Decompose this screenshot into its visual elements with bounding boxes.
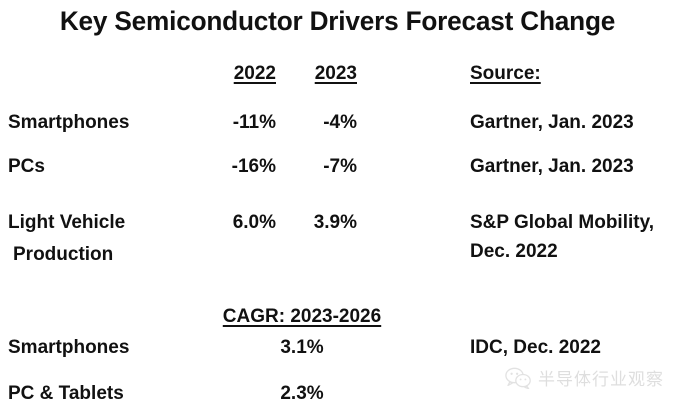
- row-value-pcs-2022: -16%: [206, 155, 276, 178]
- slide-canvas: Key Semiconductor Drivers Forecast Chang…: [0, 0, 675, 409]
- row-source-light-vehicle-line2: Dec. 2022: [470, 240, 558, 263]
- row-value-pcs-2023: -7%: [292, 155, 357, 178]
- row-label-light-vehicle: Light Vehicle: [8, 211, 125, 234]
- watermark-text: 半导体行业观察: [538, 365, 664, 390]
- row-value-light-vehicle-2023: 3.9%: [292, 211, 357, 234]
- row-label-pcs: PCs: [8, 155, 45, 178]
- cagr-row-label-smartphones: Smartphones: [8, 336, 129, 359]
- row-label-light-vehicle-line2: Production: [13, 243, 113, 266]
- cagr-section-header: CAGR: 2023-2026: [212, 305, 392, 328]
- cagr-row-source-smartphones: IDC, Dec. 2022: [470, 336, 601, 359]
- watermark: 半导体行业观察: [505, 365, 664, 390]
- row-label-smartphones: Smartphones: [8, 111, 129, 134]
- row-source-smartphones: Gartner, Jan. 2023: [470, 111, 634, 134]
- column-header-2022: 2022: [206, 62, 276, 85]
- wechat-icon: [505, 367, 531, 389]
- cagr-row-label-pc-tablets: PC & Tablets: [8, 382, 124, 405]
- cagr-row-value-smartphones: 3.1%: [212, 336, 392, 359]
- row-value-smartphones-2023: -4%: [292, 111, 357, 134]
- row-source-pcs: Gartner, Jan. 2023: [470, 155, 634, 178]
- row-source-light-vehicle: S&P Global Mobility,: [470, 211, 654, 234]
- cagr-row-value-pc-tablets: 2.3%: [212, 382, 392, 405]
- page-title: Key Semiconductor Drivers Forecast Chang…: [10, 4, 665, 38]
- column-header-2023: 2023: [292, 62, 357, 85]
- row-value-smartphones-2022: -11%: [206, 111, 276, 134]
- column-header-source: Source:: [470, 62, 541, 85]
- row-value-light-vehicle-2022: 6.0%: [206, 211, 276, 234]
